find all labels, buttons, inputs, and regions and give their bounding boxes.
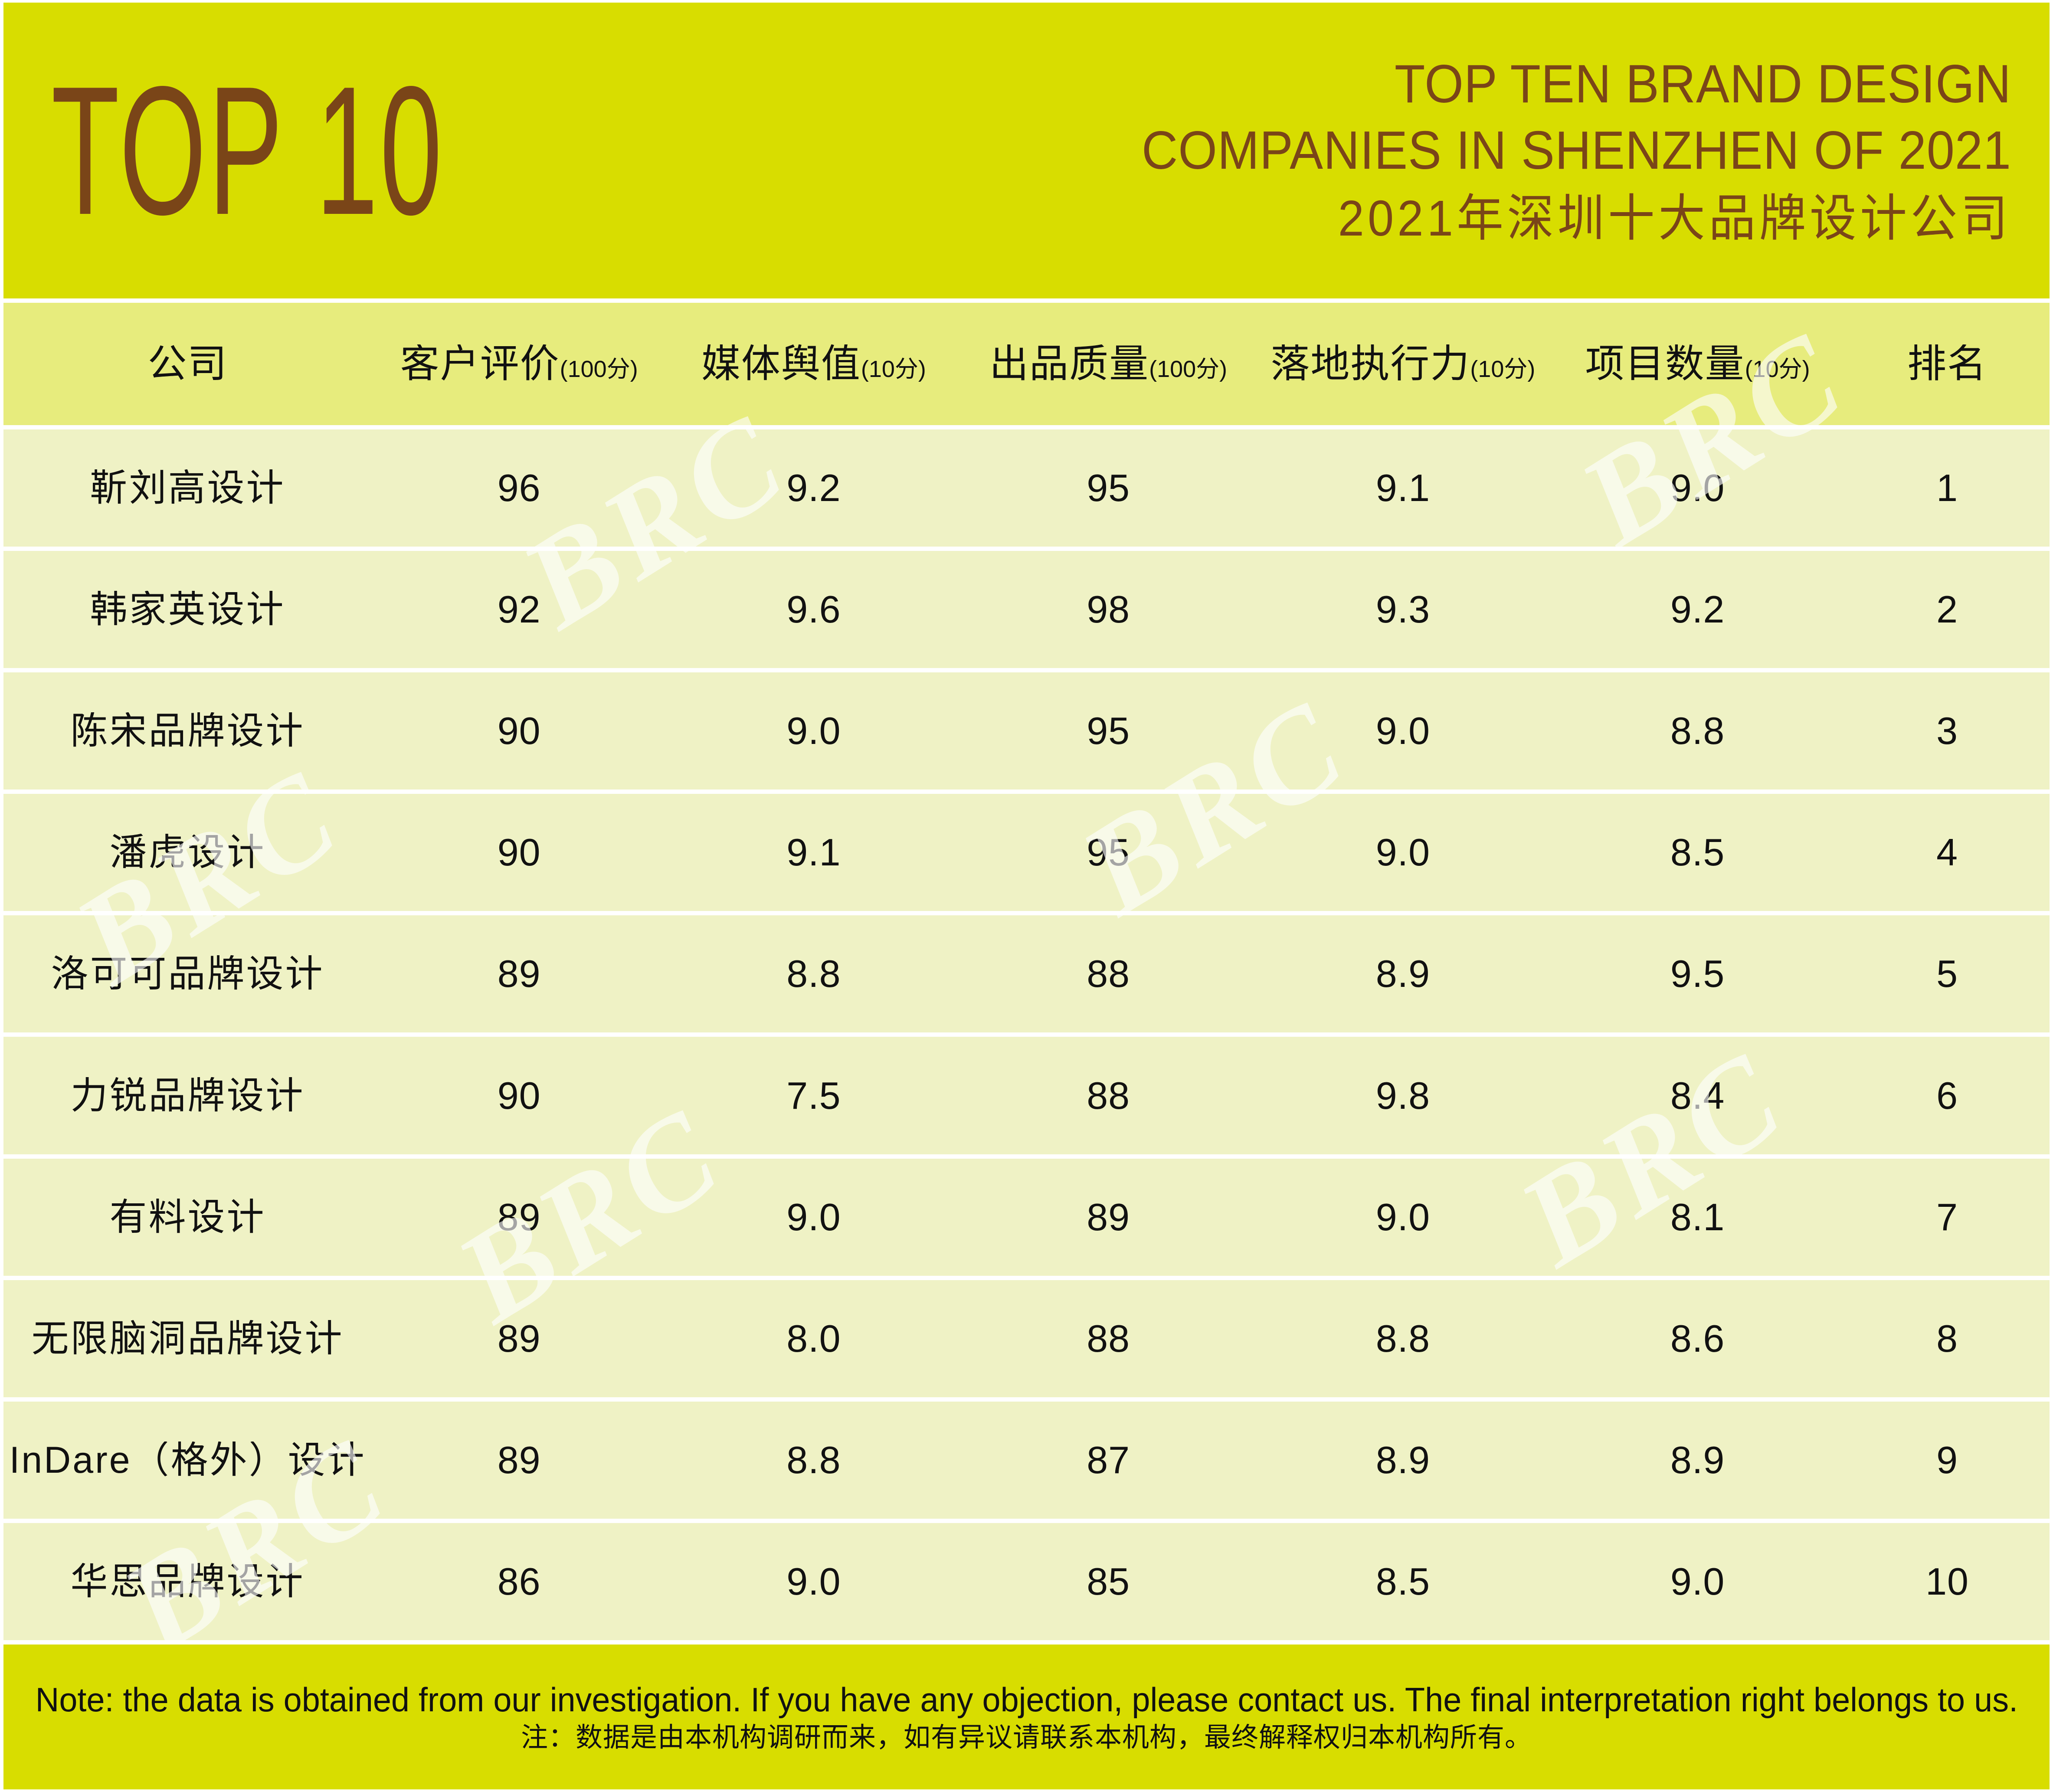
cell-media-value: 7.5 [666, 1077, 961, 1115]
cell-company: 有料设计 [3, 1199, 372, 1236]
cell-execution: 9.0 [1256, 1198, 1550, 1236]
cell-project-count: 8.1 [1550, 1198, 1845, 1236]
top10-badge: TOP 10 [51, 63, 444, 237]
cell-output-quality: 95 [961, 833, 1256, 871]
cell-rank: 3 [1845, 712, 2050, 750]
cell-project-count: 9.0 [1550, 469, 1845, 507]
column-header-media-value-label: 媒体舆值 [701, 344, 861, 383]
column-header-company-label: 公司 [148, 344, 228, 383]
table-row: 洛可可品牌设计 89 8.8 88 8.9 9.5 5 [3, 915, 2050, 1032]
cell-rank: 8 [1845, 1320, 2050, 1358]
column-header-company: 公司 [3, 344, 372, 383]
cell-company: 无限脑洞品牌设计 [3, 1320, 372, 1357]
table-row: 陈宋品牌设计 90 9.0 95 9.0 8.8 3 [3, 672, 2050, 790]
cell-company: 华思品牌设计 [3, 1563, 372, 1600]
cell-client-rating: 92 [372, 590, 666, 629]
cell-client-rating: 89 [372, 1320, 666, 1358]
column-header-project-count-unit: (10分) [1745, 356, 1810, 382]
cell-client-rating: 96 [372, 469, 666, 507]
column-header-media-value: 媒体舆值(10分) [666, 344, 961, 383]
cell-rank: 4 [1845, 833, 2050, 871]
cell-project-count: 8.8 [1550, 712, 1845, 750]
cell-media-value: 8.8 [666, 1441, 961, 1479]
column-header-rank: 排名 [1845, 344, 2050, 383]
cell-execution: 8.9 [1256, 955, 1550, 993]
cell-company: 陈宋品牌设计 [3, 712, 372, 750]
cell-output-quality: 88 [961, 1320, 1256, 1358]
column-header-execution-unit: (10分) [1470, 356, 1535, 382]
cell-company: 韩家英设计 [3, 591, 372, 628]
cell-media-value: 9.0 [666, 712, 961, 750]
column-header-execution: 落地执行力(10分) [1256, 344, 1550, 383]
cell-project-count: 9.0 [1550, 1563, 1845, 1601]
cell-client-rating: 89 [372, 955, 666, 993]
cell-output-quality: 89 [961, 1198, 1256, 1236]
cell-media-value: 9.2 [666, 469, 961, 507]
cell-project-count: 8.6 [1550, 1320, 1845, 1358]
table-row: 力锐品牌设计 90 7.5 88 9.8 8.4 6 [3, 1037, 2050, 1154]
cell-media-value: 9.1 [666, 833, 961, 871]
column-header-output-quality-unit: (100分) [1149, 356, 1227, 382]
cell-client-rating: 89 [372, 1441, 666, 1479]
table-row: 无限脑洞品牌设计 89 8.0 88 8.8 8.6 8 [3, 1280, 2050, 1397]
table-row: 韩家英设计 92 9.6 98 9.3 9.2 2 [3, 551, 2050, 668]
column-header-client-rating-label: 客户评价 [400, 344, 560, 383]
column-header-project-count: 项目数量(10分) [1550, 344, 1845, 383]
cell-output-quality: 85 [961, 1563, 1256, 1601]
cell-media-value: 8.0 [666, 1320, 961, 1358]
cell-execution: 9.8 [1256, 1077, 1550, 1115]
cell-media-value: 9.0 [666, 1563, 961, 1601]
column-header-client-rating-unit: (100分) [560, 356, 638, 382]
cell-rank: 6 [1845, 1077, 2050, 1115]
cell-execution: 8.8 [1256, 1320, 1550, 1358]
cell-project-count: 9.2 [1550, 590, 1845, 629]
cell-output-quality: 95 [961, 712, 1256, 750]
column-header-output-quality: 出品质量(100分) [961, 344, 1256, 383]
title-cn: 2021年深圳十大品牌设计公司 [1142, 187, 2011, 250]
cell-execution: 9.3 [1256, 590, 1550, 629]
cell-rank: 10 [1845, 1563, 2050, 1601]
title-en-line2: COMPANIES IN SHENZHEN OF 2021 [1142, 118, 2011, 184]
title-en-line1: TOP TEN BRAND DESIGN [1142, 51, 2011, 118]
cell-company: InDare（格外）设计 [3, 1441, 372, 1479]
cell-company: 力锐品牌设计 [3, 1077, 372, 1114]
cell-output-quality: 95 [961, 469, 1256, 507]
cell-media-value: 9.0 [666, 1198, 961, 1236]
table-header-row: 公司 客户评价(100分) 媒体舆值(10分) 出品质量(100分) 落地执行力… [3, 303, 2050, 425]
cell-client-rating: 86 [372, 1563, 666, 1601]
cell-rank: 7 [1845, 1198, 2050, 1236]
cell-company: 洛可可品牌设计 [3, 955, 372, 993]
cell-project-count: 9.5 [1550, 955, 1845, 993]
table-row: 潘虎设计 90 9.1 95 9.0 8.5 4 [3, 794, 2050, 911]
cell-output-quality: 87 [961, 1441, 1256, 1479]
column-header-project-count-label: 项目数量 [1585, 344, 1745, 383]
footer-note-cn: 注：数据是由本机构调研而来，如有异议请联系本机构，最终解释权归本机构所有。 [521, 1724, 1532, 1751]
table-row: InDare（格外）设计 89 8.8 87 8.9 8.9 9 [3, 1402, 2050, 1519]
cell-rank: 2 [1845, 590, 2050, 629]
cell-media-value: 8.8 [666, 955, 961, 993]
table-row: 有料设计 89 9.0 89 9.0 8.1 7 [3, 1159, 2050, 1276]
cell-client-rating: 90 [372, 1077, 666, 1115]
cell-execution: 8.5 [1256, 1563, 1550, 1601]
ranking-table: BRC BRC BRC BRC BRC BRC BRC 公司 客户评价(100分… [3, 303, 2050, 1640]
cell-rank: 1 [1845, 469, 2050, 507]
cell-company: 潘虎设计 [3, 834, 372, 871]
cell-rank: 9 [1845, 1441, 2050, 1479]
cell-execution: 9.1 [1256, 469, 1550, 507]
cell-client-rating: 89 [372, 1198, 666, 1236]
cell-project-count: 8.9 [1550, 1441, 1845, 1479]
poster-root: TOP 10 TOP TEN BRAND DESIGN COMPANIES IN… [0, 0, 2053, 1792]
cell-project-count: 8.4 [1550, 1077, 1845, 1115]
table-row: 靳刘高设计 96 9.2 95 9.1 9.0 1 [3, 429, 2050, 547]
header-band: TOP 10 TOP TEN BRAND DESIGN COMPANIES IN… [3, 3, 2050, 298]
footer-band: Note: the data is obtained from our inve… [3, 1645, 2050, 1789]
cell-company: 靳刘高设计 [3, 469, 372, 507]
column-header-client-rating: 客户评价(100分) [372, 344, 666, 383]
cell-execution: 9.0 [1256, 833, 1550, 871]
cell-rank: 5 [1845, 955, 2050, 993]
table-row: 华思品牌设计 86 9.0 85 8.5 9.0 10 [3, 1523, 2050, 1640]
cell-output-quality: 88 [961, 955, 1256, 993]
footer-note-en: Note: the data is obtained from our inve… [35, 1683, 2017, 1717]
column-header-rank-label: 排名 [1907, 344, 1987, 383]
cell-client-rating: 90 [372, 712, 666, 750]
column-header-execution-label: 落地执行力 [1270, 344, 1470, 383]
cell-media-value: 9.6 [666, 590, 961, 629]
cell-output-quality: 98 [961, 590, 1256, 629]
column-header-output-quality-label: 出品质量 [989, 344, 1149, 383]
cell-execution: 8.9 [1256, 1441, 1550, 1479]
cell-output-quality: 88 [961, 1077, 1256, 1115]
cell-client-rating: 90 [372, 833, 666, 871]
cell-execution: 9.0 [1256, 712, 1550, 750]
column-header-media-value-unit: (10分) [861, 356, 926, 382]
cell-project-count: 8.5 [1550, 833, 1845, 871]
title-block: TOP TEN BRAND DESIGN COMPANIES IN SHENZH… [1142, 51, 2024, 250]
